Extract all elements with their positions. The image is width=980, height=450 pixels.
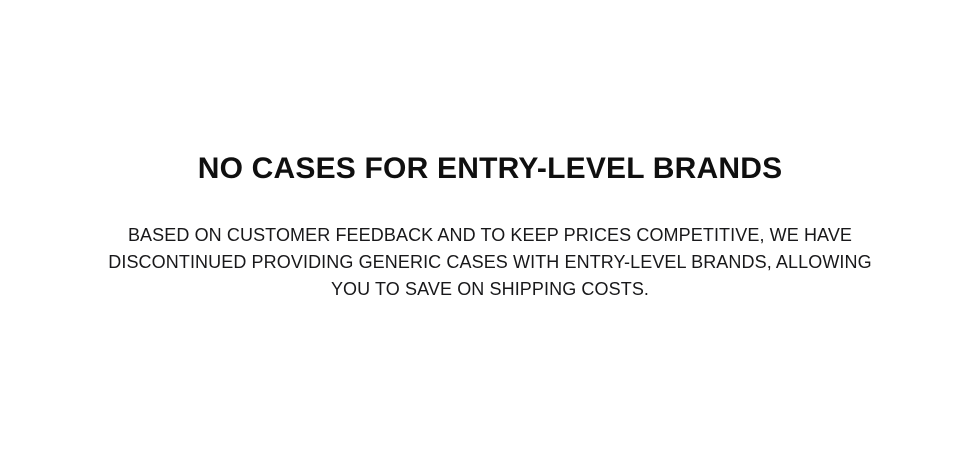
notice-body-line: DISCONTINUED PROVIDING GENERIC CASES WIT… bbox=[90, 249, 890, 276]
notice-body-line: BASED ON CUSTOMER FEEDBACK AND TO KEEP P… bbox=[90, 222, 890, 249]
notice-body-text: BASED ON CUSTOMER FEEDBACK AND TO KEEP P… bbox=[90, 222, 890, 303]
notice-body-line: YOU TO SAVE ON SHIPPING COSTS. bbox=[90, 276, 890, 303]
notice-banner: NO CASES FOR ENTRY-LEVEL BRANDS BASED ON… bbox=[0, 0, 980, 450]
page-title: NO CASES FOR ENTRY-LEVEL BRANDS bbox=[198, 152, 783, 186]
